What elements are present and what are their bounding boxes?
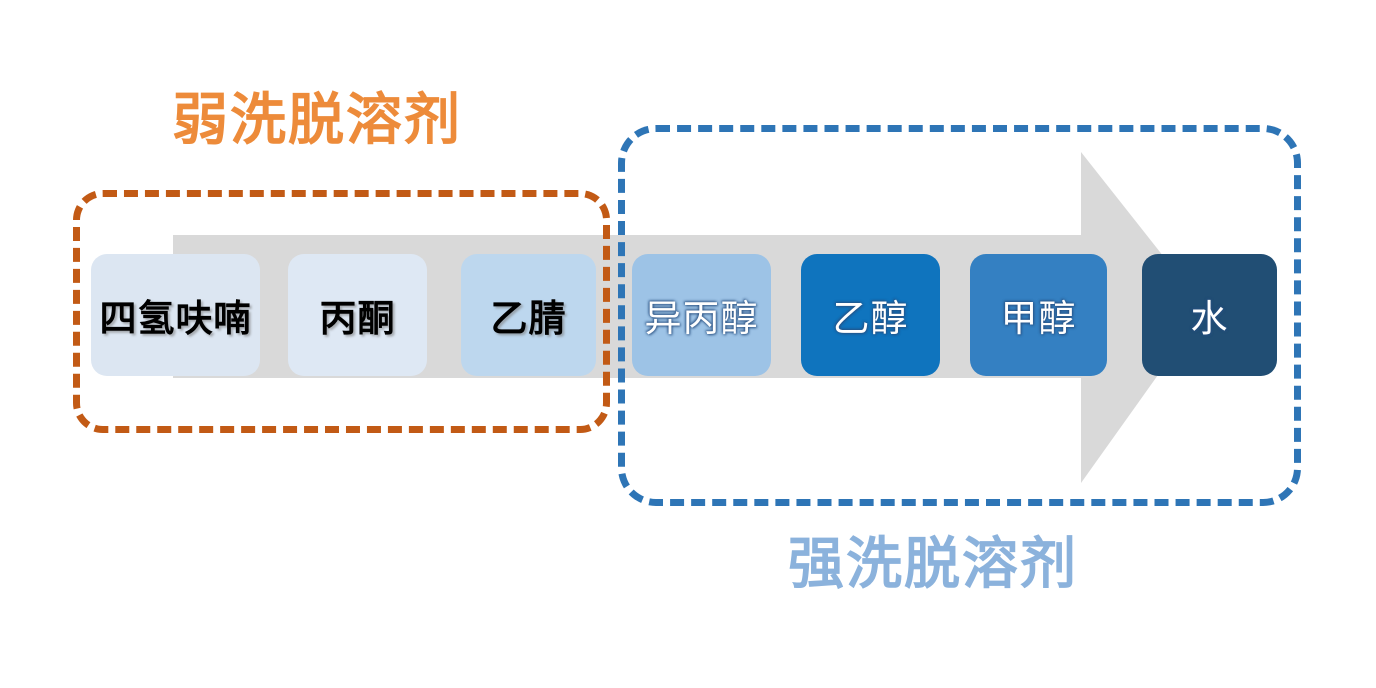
solvent-chip-ethanol[interactable]: 乙醇 [801,254,940,376]
solvent-chip-thf[interactable]: 四氢呋喃 [91,254,260,376]
solvent-chip-isopropanol[interactable]: 异丙醇 [632,254,771,376]
weak-eluent-title: 弱洗脱溶剂 [172,92,462,148]
solvent-chip-acetone[interactable]: 丙酮 [288,254,427,376]
solvent-chip-methanol[interactable]: 甲醇 [970,254,1107,376]
solvent-chip-water[interactable]: 水 [1142,254,1277,376]
diagram-canvas: 弱洗脱溶剂 强洗脱溶剂 四氢呋喃 丙酮 乙腈 异丙醇 乙醇 甲醇 水 [0,0,1376,688]
strong-eluent-title: 强洗脱溶剂 [788,536,1078,592]
solvent-chip-acetonitrile[interactable]: 乙腈 [461,254,596,376]
